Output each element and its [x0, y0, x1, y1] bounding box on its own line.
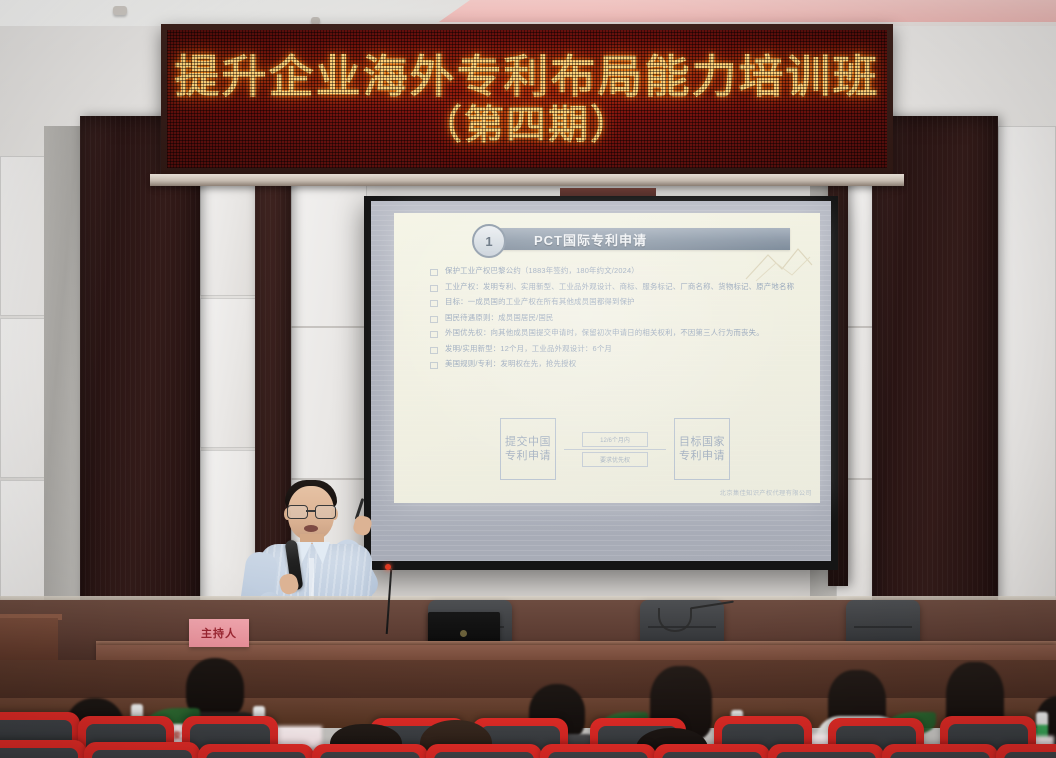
seat-cushion [434, 752, 534, 758]
microphone-led-icon [385, 564, 391, 570]
bullet-marker-icon [430, 331, 438, 338]
laptop-logo-icon [460, 630, 467, 637]
audience-seat [426, 744, 542, 758]
slide-bullet-text: 目标：一成员国的工业产权在所有其他成员国都得到保护 [445, 296, 635, 308]
slide-bullet-text: 外国优先权：向其他成员国提交申请时，保留初次申请日的相关权利，不因第三人行为而丧… [445, 327, 764, 339]
slide-bullet: 外国优先权：向其他成员国提交申请时，保留初次申请日的相关权利，不因第三人行为而丧… [430, 327, 810, 339]
led-banner-line-2: （第四期） [422, 105, 632, 145]
slide-bullet: 美国规则/专利：发明权在先，抢先授权 [430, 358, 810, 370]
wall-panel [200, 298, 258, 448]
slide-bullet-text: 国民待遇原则：成员国居民/国民 [445, 312, 554, 324]
smoke-detector-icon [113, 6, 127, 15]
seat-cushion [92, 750, 192, 758]
audience-seat [768, 744, 884, 758]
bullet-marker-icon [430, 316, 438, 323]
seat-cushion [320, 752, 420, 758]
flow-chip-duration: 12/6个月内 [582, 432, 648, 447]
flow-connector: 12/6个月内 要求优先权 [564, 432, 666, 467]
seminar-photo: 提升企业海外专利布局能力培训班 （第四期） PCT国际专利申请 1 保护工业产权… [0, 0, 1056, 758]
flow-box-target: 目标国家专利申请 [674, 418, 730, 480]
audience-seat [996, 744, 1056, 758]
seat-cushion [776, 752, 876, 758]
glasses-lens [315, 505, 336, 519]
audience-seat [0, 740, 86, 758]
smoke-detector-icon [311, 17, 320, 24]
flow-chip-priority: 要求优先权 [582, 452, 648, 467]
bullet-marker-icon [430, 300, 438, 307]
slide-bullet-text: 工业产权：发明专利、实用新型、工业品外观设计、商标、服务标记、厂商名称、货物标记… [445, 281, 794, 293]
slide-bullet: 工业产权：发明专利、实用新型、工业品外观设计、商标、服务标记、厂商名称、货物标记… [430, 281, 810, 293]
slide-number-badge: 1 [472, 224, 506, 258]
banner-shelf [150, 174, 904, 186]
slide-bullet: 目标：一成员国的工业产权在所有其他成员国都得到保护 [430, 296, 810, 308]
wood-pilaster-right [872, 116, 998, 664]
flow-box-source: 提交中国专利申请 [500, 418, 556, 480]
seat-cushion [1004, 752, 1056, 758]
wall-panel [998, 126, 1056, 646]
bullet-marker-icon [430, 362, 438, 369]
ceiling-pink-panel [430, 0, 1056, 22]
audience-seat [654, 744, 770, 758]
slide-bullet-list: 保护工业产权巴黎公约（1883年签约，180年约文/2024） 工业产权：发明专… [430, 265, 810, 374]
audience-seat [312, 744, 428, 758]
bullet-marker-icon [430, 269, 438, 276]
led-banner: 提升企业海外专利布局能力培训班 （第四期） [161, 24, 893, 174]
audience-seat [882, 744, 998, 758]
slide-title: PCT国际专利申请 [534, 230, 647, 249]
host-placard: 主持人 [189, 619, 249, 647]
seat-cushion [890, 752, 990, 758]
audience-seat [84, 742, 200, 758]
led-banner-line-1: 提升企业海外专利布局能力培训班 [174, 54, 879, 99]
seat-cushion [0, 748, 78, 758]
glasses-bridge [306, 510, 315, 512]
audience-seat [198, 744, 314, 758]
wood-pilaster-left [80, 116, 200, 666]
audience-area: 黄俊文 [0, 660, 1056, 758]
glasses-lens [287, 505, 308, 519]
wall-column [44, 126, 84, 646]
seat-cushion [548, 752, 648, 758]
bullet-marker-icon [430, 285, 438, 292]
presentation-slide: PCT国际专利申请 1 保护工业产权巴黎公约（1883年签约，180年约文/20… [394, 213, 820, 503]
seat-cushion [206, 752, 306, 758]
slide-bullet: 发明/实用新型：12个月，工业品外观设计：6个月 [430, 343, 810, 355]
presenter-glasses [286, 505, 336, 517]
slide-watermark: 北京集佳知识产权代理有限公司 [720, 488, 812, 497]
audience-seat [540, 744, 656, 758]
side-podium [0, 618, 58, 662]
slide-bullet-text: 美国规则/专利：发明权在先，抢先授权 [445, 358, 576, 370]
slide-flow-diagram: 提交中国专利申请 12/6个月内 要求优先权 目标国家专利申请 [500, 416, 730, 482]
wall-groove [291, 326, 367, 328]
flow-arrow-icon [564, 449, 666, 450]
slide-bullet-text: 发明/实用新型：12个月，工业品外观设计：6个月 [445, 343, 612, 355]
led-screen: 提升企业海外专利布局能力培训班 （第四期） [167, 30, 887, 168]
slide-bullet: 国民待遇原则：成员国居民/国民 [430, 312, 810, 324]
bullet-marker-icon [430, 347, 438, 354]
slide-bullet-text: 保护工业产权巴黎公约（1883年签约，180年约文/2024） [445, 265, 639, 277]
seat-cushion [662, 752, 762, 758]
presenter-mouth [304, 525, 318, 532]
slide-bullet: 保护工业产权巴黎公约（1883年签约，180年约文/2024） [430, 265, 810, 277]
